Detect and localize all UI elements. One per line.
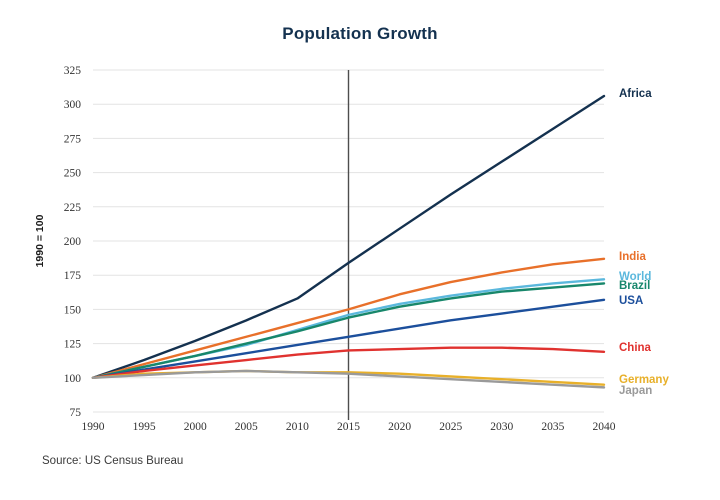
chart-container: Population Growth 7510012515017520022525… [0, 0, 720, 500]
y-axis-tick-label: 250 [64, 168, 82, 180]
x-axis-tick-label: 2035 [541, 421, 564, 433]
x-axis-tick-label: 2040 [593, 421, 616, 433]
x-axis-tick-label: 2015 [337, 421, 360, 433]
line-chart-plot: 75100125150175200225250275300325 1990199… [0, 0, 720, 500]
source-note: Source: US Census Bureau [42, 455, 183, 467]
x-axis-tick-label: 1995 [133, 421, 156, 433]
y-axis-title: 1990 = 100 [34, 214, 46, 267]
series-label-africa: Africa [619, 88, 652, 100]
x-axis-tick-label: 2005 [235, 421, 258, 433]
y-axis-tick-label: 150 [64, 304, 82, 316]
x-axis-tick-label: 2000 [184, 421, 207, 433]
y-axis-tick-label: 125 [64, 339, 82, 351]
y-axis-tick-label: 325 [64, 65, 82, 77]
series-label-india: India [619, 251, 646, 263]
series-label-japan: Japan [619, 385, 652, 397]
series-label-usa: USA [619, 295, 643, 307]
series-label-china: China [619, 342, 651, 354]
x-axis-tick-label: 2030 [490, 421, 513, 433]
y-axis-tick-label: 175 [64, 270, 82, 282]
x-axis-tick-label: 1990 [82, 421, 105, 433]
x-axis-tick-labels: 1990199520002005201020152020202520302035… [82, 421, 616, 433]
y-axis-tick-labels: 75100125150175200225250275300325 [64, 65, 82, 419]
x-axis-tick-label: 2025 [439, 421, 462, 433]
x-axis-tick-label: 2010 [286, 421, 309, 433]
series-label-brazil: Brazil [619, 280, 650, 292]
y-axis-tick-label: 275 [64, 133, 82, 145]
y-axis-tick-label: 100 [64, 373, 82, 385]
y-axis-tick-label: 200 [64, 236, 82, 248]
x-axis-tick-label: 2020 [388, 421, 411, 433]
y-axis-tick-label: 75 [70, 407, 82, 419]
y-axis-tick-label: 300 [64, 99, 82, 111]
y-axis-tick-label: 225 [64, 202, 82, 214]
y-axis-title-group: 1990 = 100 [34, 214, 46, 267]
